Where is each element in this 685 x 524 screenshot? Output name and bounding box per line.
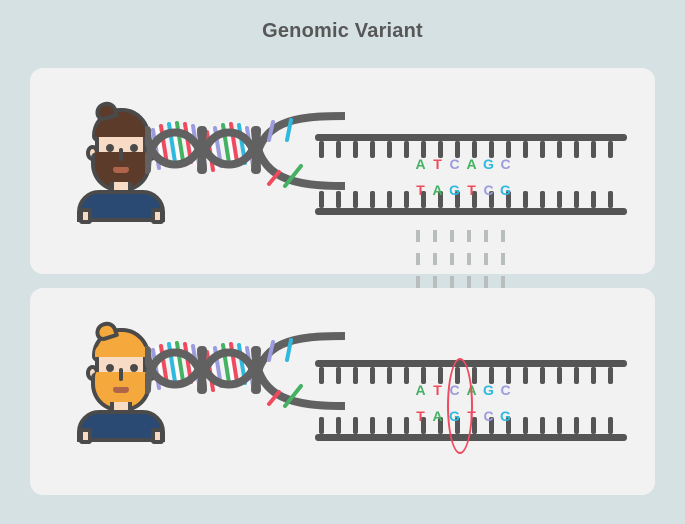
dna-ladder-reference [30, 68, 655, 274]
page-title: Genomic Variant [0, 20, 685, 43]
variant-panel: ATCAGC TAGTCG [30, 288, 655, 495]
reference-panel: ATCAGC TAGTCG [30, 68, 655, 274]
sequence-bottom-reference: TAGTCG [412, 182, 514, 198]
dna-ladder-variant [30, 288, 655, 495]
sequence-top-reference: ATCAGC [412, 156, 514, 172]
variant-highlight-ellipse [447, 358, 473, 454]
